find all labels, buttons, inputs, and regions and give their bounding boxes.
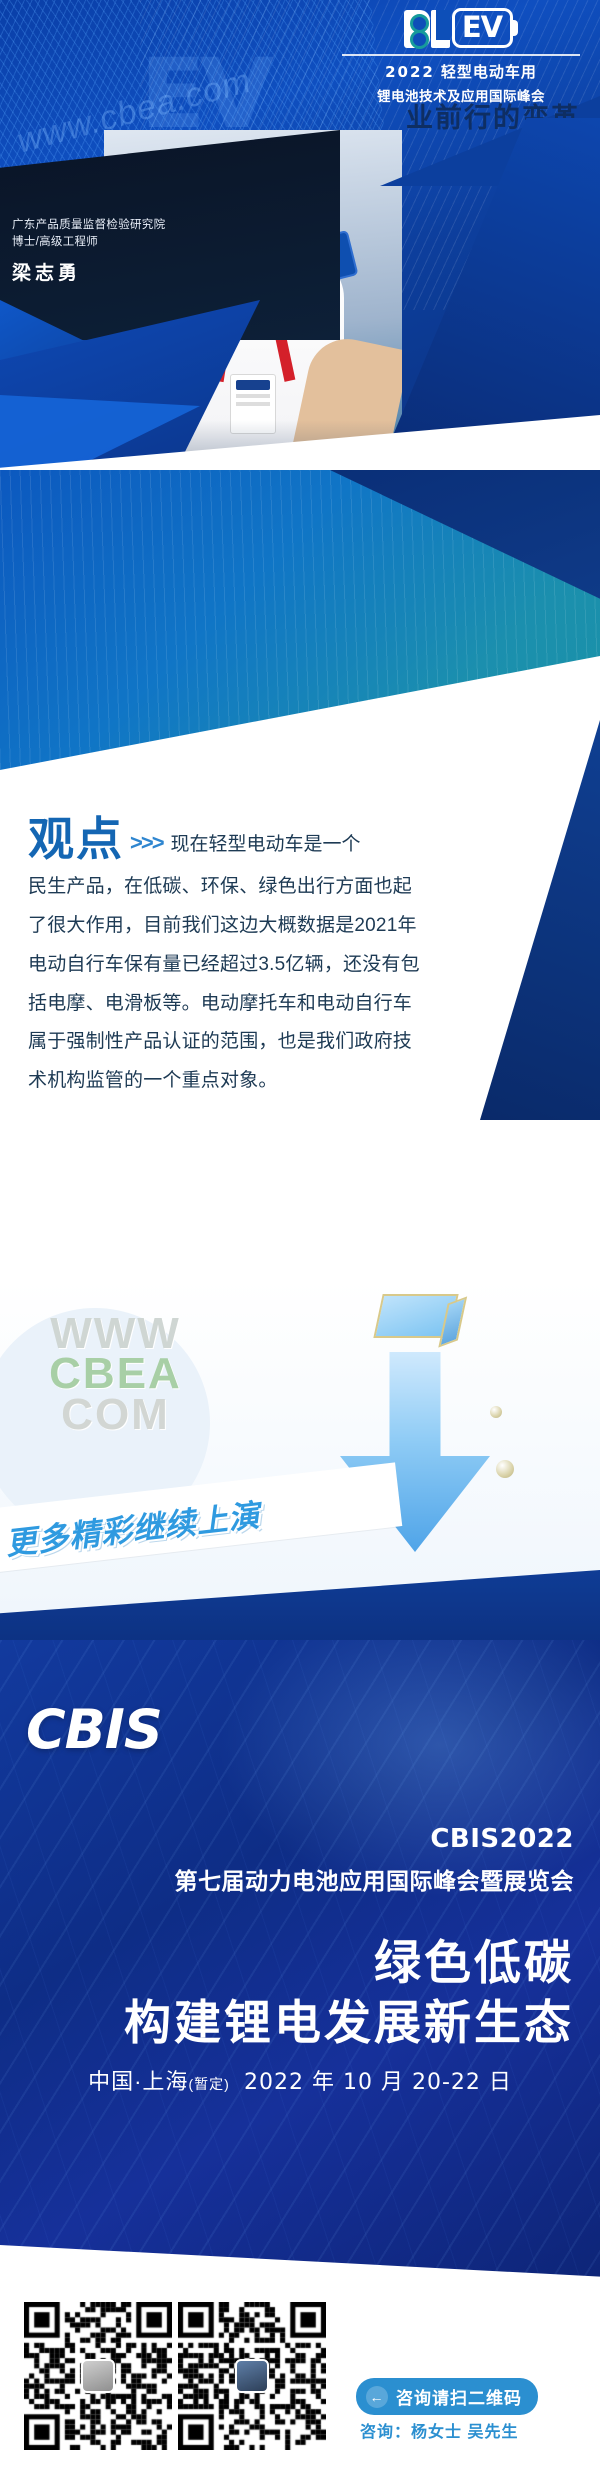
cbea-promo-section: WWW CBEA COM 更多精彩继续上演	[0, 1280, 600, 1660]
speaker-name: 梁志勇	[12, 258, 81, 285]
quote-line: 民生产品，在低碳、环保、绿色出行方面也起	[28, 868, 548, 907]
quote-line: 括电摩、电滑板等。电动摩托车和电动自行车	[28, 985, 548, 1024]
bead-decoration	[490, 1406, 502, 1418]
cbis-location: 中国·上海	[88, 2069, 188, 2094]
battery-cap-icon	[512, 20, 518, 36]
quote-line: 术机构监管的一个重点对象。	[28, 1062, 548, 1101]
cbis-location-note: (暂定)	[188, 2076, 229, 2092]
event-title-line1: 2022轻型电动车用	[336, 61, 586, 82]
cbis-logo: CBIS	[26, 1698, 162, 1761]
cbea-watermark-logo: WWW CBEA COM	[8, 1314, 223, 1435]
cbis-subtitle: 第七届动力电池应用国际峰会暨展览会	[175, 1862, 575, 1896]
cbis-slogan-line2: 构建锂电发展新生态	[124, 1984, 574, 2053]
quote-body: 民生产品，在低碳、环保、绿色出行方面也起 了很大作用，目前我们这边大概数据是20…	[28, 868, 548, 1102]
logo-letters-ev: EV	[452, 8, 513, 48]
cbis-section: CBIS CBIS2022 第七届动力电池应用国际峰会暨展览会 绿色低碳 构建锂…	[0, 1640, 600, 2340]
qr-code-left[interactable]	[24, 2302, 172, 2450]
cbis-date-line: 中国·上海(暂定) 2022 年 10 月 20-22 日	[0, 2064, 600, 2096]
event-title-line2: 锂电池技术及应用国际峰会	[336, 85, 586, 105]
quote-line: 电动自行车保有量已经超过3.5亿辆，还没有包	[28, 946, 548, 985]
logo-divider	[342, 54, 580, 56]
cbea-com-text: COM	[8, 1395, 223, 1435]
cbis-edition: CBIS2022	[430, 1824, 574, 1854]
footer-contact-section: ← 咨询请扫二维码 咨询：杨女士 吴先生	[0, 2290, 600, 2491]
quote-section: 观点 >>> 现在轻型电动车是一个 民生产品，在低碳、环保、绿色出行方面也起 了…	[0, 470, 600, 1280]
chevron-right-icon: >>>	[130, 830, 163, 856]
event-title-cn1: 轻型电动车用	[441, 64, 537, 81]
contact-persons: 咨询：杨女士 吴先生	[360, 2418, 518, 2442]
quote-heading: 观点	[28, 818, 124, 862]
bead-decoration	[496, 1460, 514, 1478]
cube-3d-icon	[373, 1294, 458, 1338]
logo-letter-l	[431, 10, 450, 48]
event-year: 2022	[385, 63, 435, 81]
speaker-job-title: 博士/高级工程师	[12, 233, 98, 249]
scan-qr-cta-button[interactable]: ← 咨询请扫二维码	[356, 2378, 538, 2415]
speaker-organization: 广东产品质量监督检验研究院	[12, 216, 165, 232]
scan-qr-cta-label: 咨询请扫二维码	[396, 2384, 522, 2409]
quote-content: 观点 >>> 现在轻型电动车是一个 民生产品，在低碳、环保、绿色出行方面也起 了…	[28, 818, 548, 1101]
cbis-date: 2022 年 10 月 20-22 日	[244, 2070, 512, 2095]
blev-logo-icon: EV	[336, 8, 586, 48]
quote-line: 属于强制性产品认证的范围，也是我们政府技	[28, 1023, 548, 1062]
quote-first-line: 现在轻型电动车是一个	[171, 835, 361, 856]
cbis-slogan-line1: 绿色低碳	[374, 1924, 574, 1993]
qr-code-right[interactable]	[178, 2302, 326, 2450]
arrow-left-icon: ←	[366, 2386, 388, 2408]
qr-avatar-right	[235, 2359, 269, 2393]
cbea-www-text: WWW	[8, 1314, 223, 1354]
logo-letter-b	[404, 10, 430, 48]
qr-avatar-left	[81, 2359, 115, 2393]
blev-logo-block: EV 2022轻型电动车用 锂电池技术及应用国际峰会	[336, 8, 586, 105]
hero-banner: EV www.cbea.com BLEV 业前行的变革 广东产品质量监督检验研究…	[0, 0, 600, 490]
cbea-name-text: CBEA	[8, 1354, 223, 1394]
quote-header: 观点 >>> 现在轻型电动车是一个	[28, 818, 548, 862]
quote-line: 了很大作用，目前我们这边大概数据是2021年	[28, 907, 548, 946]
